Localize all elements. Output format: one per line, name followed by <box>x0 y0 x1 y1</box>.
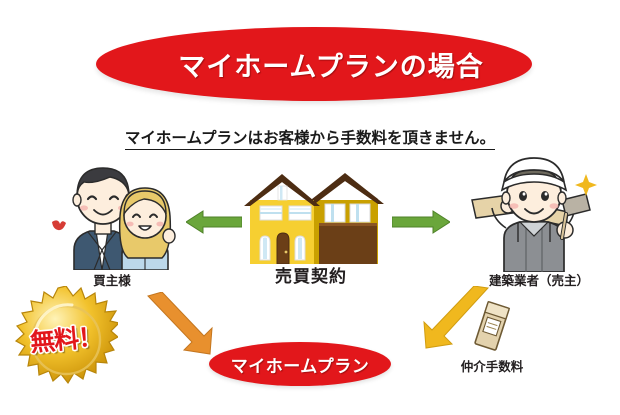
couple-icon <box>40 158 182 270</box>
subtitle: マイホームプランはお客様から手数料を頂きません。 <box>0 126 620 148</box>
diagram-canvas: マイホームプランの場合 マイホームプランはお客様から手数料を頂きません。 <box>0 0 620 415</box>
arrow-left-green-icon <box>186 209 242 235</box>
plan-ellipse: マイホームプラン <box>209 342 391 386</box>
leaf-decoration-icon <box>51 218 67 237</box>
subtitle-text: マイホームプランはお客様から手数料を頂きません。 <box>125 130 495 150</box>
money-envelope-icon <box>470 300 514 352</box>
carpenter-icon <box>470 156 598 272</box>
house-icon <box>238 168 384 264</box>
node-label-brokerage-fee: 仲介手数料 <box>434 356 550 375</box>
arrow-right-green-icon <box>392 209 450 235</box>
page-title: マイホームプランの場合 <box>96 27 532 101</box>
starburst-badge-icon: 無料！ <box>14 286 118 390</box>
title-ellipse: マイホームプランの場合 <box>96 27 532 101</box>
node-label-builder: 建築業者（売主） <box>484 270 594 289</box>
plan-label: マイホームプラン <box>209 342 391 386</box>
node-label-contract: 売買契約 <box>249 262 373 287</box>
